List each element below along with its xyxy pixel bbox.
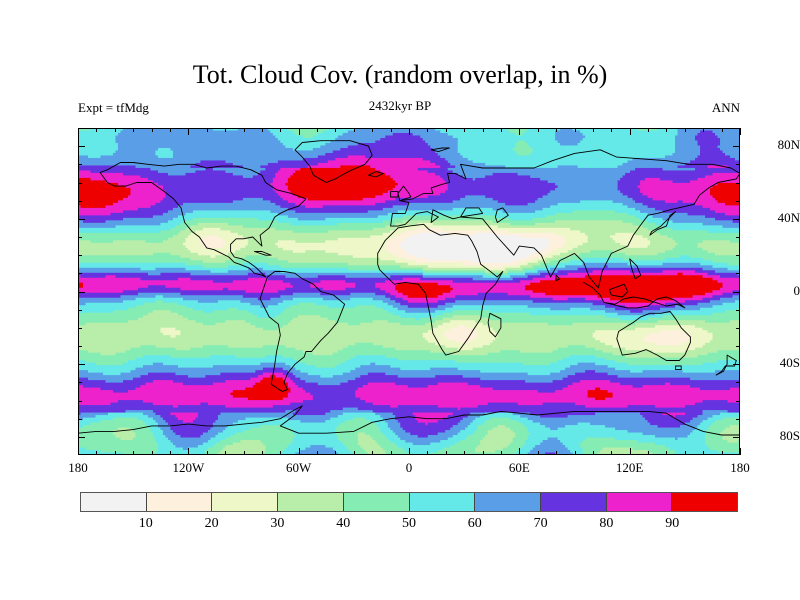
y-tickmark bbox=[78, 292, 85, 293]
x-tickmark bbox=[483, 451, 484, 455]
x-tickmark bbox=[409, 448, 410, 455]
x-tickmark bbox=[78, 448, 79, 455]
x-tickmark bbox=[703, 451, 704, 455]
x-tickmark-top bbox=[78, 128, 79, 135]
colorbar-tick-40: 40 bbox=[323, 516, 363, 532]
x-tickmark bbox=[354, 451, 355, 455]
x-tickmark bbox=[427, 451, 428, 455]
x-tickmark bbox=[188, 448, 189, 455]
x-tickmark-top bbox=[317, 128, 318, 132]
x-tickmark-top bbox=[556, 128, 557, 132]
x-tick-0: 0 bbox=[379, 460, 439, 476]
x-tickmark-top bbox=[630, 128, 631, 135]
x-tickmark bbox=[335, 451, 336, 455]
x-tickmark bbox=[262, 451, 263, 455]
y-tickmark-right bbox=[736, 201, 740, 202]
x-tickmark-top bbox=[427, 128, 428, 132]
colorbar-tick-50: 50 bbox=[389, 516, 429, 532]
x-tickmark-top bbox=[225, 128, 226, 132]
y-tickmark bbox=[78, 328, 82, 329]
x-tickmark bbox=[152, 451, 153, 455]
x-tickmark-top bbox=[372, 128, 373, 132]
x-tickmark-top bbox=[354, 128, 355, 132]
y-tickmark bbox=[78, 346, 82, 347]
cloud-cover-map-figure: Tot. Cloud Cov. (random overlap, in %) E… bbox=[0, 0, 800, 600]
x-tick-60E: 60E bbox=[489, 460, 549, 476]
x-tickmark-top bbox=[483, 128, 484, 132]
x-tickmark-top bbox=[280, 128, 281, 132]
y-tickmark-right bbox=[736, 255, 740, 256]
x-tickmark bbox=[299, 448, 300, 455]
y-tick-0: 0 bbox=[730, 283, 800, 299]
colorbar-band-90-100[interactable] bbox=[672, 493, 737, 511]
y-tickmark-right bbox=[733, 437, 740, 438]
colorbar-band-60-70[interactable] bbox=[475, 493, 541, 511]
x-tickmark bbox=[280, 451, 281, 455]
x-tickmark bbox=[317, 451, 318, 455]
x-tickmark bbox=[575, 451, 576, 455]
x-tickmark bbox=[244, 451, 245, 455]
y-tickmark bbox=[78, 437, 85, 438]
cloud-cover-heatmap bbox=[78, 128, 740, 455]
x-tickmark bbox=[207, 451, 208, 455]
x-tickmark bbox=[722, 451, 723, 455]
x-tickmark-top bbox=[170, 128, 171, 132]
x-tickmark bbox=[538, 451, 539, 455]
colorbar-band-70-80[interactable] bbox=[541, 493, 607, 511]
y-tickmark-right bbox=[733, 364, 740, 365]
y-tickmark bbox=[78, 310, 82, 311]
x-tickmark-top bbox=[666, 128, 667, 132]
colorbar-band-80-90[interactable] bbox=[607, 493, 673, 511]
colorbar-tick-30: 30 bbox=[257, 516, 297, 532]
x-tickmark-top bbox=[611, 128, 612, 132]
y-tickmark-right bbox=[733, 292, 740, 293]
x-tickmark bbox=[740, 448, 741, 455]
y-tickmark bbox=[78, 419, 82, 420]
x-tickmark bbox=[96, 451, 97, 455]
colorbar[interactable] bbox=[80, 492, 738, 512]
y-tick-80N: 80N bbox=[730, 137, 800, 153]
x-tickmark bbox=[372, 451, 373, 455]
y-tickmark-right bbox=[736, 401, 740, 402]
x-tickmark-top bbox=[335, 128, 336, 132]
y-tickmark-right bbox=[736, 273, 740, 274]
x-tickmark bbox=[225, 451, 226, 455]
season-label: ANN bbox=[0, 100, 740, 116]
colorbar-tick-60: 60 bbox=[455, 516, 495, 532]
x-tickmark bbox=[391, 451, 392, 455]
x-tickmark-top bbox=[593, 128, 594, 132]
x-tickmark-top bbox=[152, 128, 153, 132]
x-tick-60W: 60W bbox=[269, 460, 329, 476]
x-tickmark-top bbox=[648, 128, 649, 132]
colorbar-tick-70: 70 bbox=[521, 516, 561, 532]
x-tickmark-top bbox=[685, 128, 686, 132]
y-tickmark-right bbox=[736, 310, 740, 311]
x-tick-120W: 120W bbox=[158, 460, 218, 476]
x-tickmark-top bbox=[262, 128, 263, 132]
y-tickmark-right bbox=[736, 237, 740, 238]
y-tickmark bbox=[78, 273, 82, 274]
x-tickmark-top bbox=[740, 128, 741, 135]
y-tickmark bbox=[78, 201, 82, 202]
x-tickmark-top bbox=[133, 128, 134, 132]
y-tickmark-right bbox=[736, 328, 740, 329]
x-tickmark bbox=[519, 448, 520, 455]
x-tickmark-top bbox=[501, 128, 502, 132]
x-tickmark-top bbox=[519, 128, 520, 135]
y-tickmark-right bbox=[736, 183, 740, 184]
y-tickmark bbox=[78, 401, 82, 402]
y-tickmark bbox=[78, 183, 82, 184]
x-tickmark bbox=[170, 451, 171, 455]
y-tickmark bbox=[78, 219, 85, 220]
y-tick-80S: 80S bbox=[730, 428, 800, 444]
colorbar-band-50-60[interactable] bbox=[410, 493, 476, 511]
x-tickmark bbox=[446, 451, 447, 455]
x-tickmark-top bbox=[409, 128, 410, 135]
x-tickmark bbox=[630, 448, 631, 455]
x-tickmark bbox=[685, 451, 686, 455]
x-tickmark bbox=[593, 451, 594, 455]
y-tick-40S: 40S bbox=[730, 355, 800, 371]
y-tickmark-right bbox=[733, 219, 740, 220]
y-tick-40N: 40N bbox=[730, 210, 800, 226]
x-tickmark-top bbox=[299, 128, 300, 135]
y-tickmark-right bbox=[736, 382, 740, 383]
colorbar-band-30-40[interactable] bbox=[278, 493, 344, 511]
x-tick-180: 180 bbox=[48, 460, 108, 476]
x-tickmark bbox=[133, 451, 134, 455]
colorbar-band-0-10[interactable] bbox=[81, 493, 147, 511]
x-tickmark bbox=[464, 451, 465, 455]
y-tickmark bbox=[78, 237, 82, 238]
x-tickmark-top bbox=[703, 128, 704, 132]
x-tickmark-top bbox=[115, 128, 116, 132]
x-tickmark-top bbox=[96, 128, 97, 132]
colorbar-band-20-30[interactable] bbox=[212, 493, 278, 511]
x-tickmark-top bbox=[464, 128, 465, 132]
page-title: Tot. Cloud Cov. (random overlap, in %) bbox=[0, 60, 800, 90]
x-tickmark-top bbox=[244, 128, 245, 132]
x-tickmark bbox=[556, 451, 557, 455]
x-tickmark-top bbox=[575, 128, 576, 132]
y-tickmark-right bbox=[736, 346, 740, 347]
x-tick-180: 180 bbox=[710, 460, 770, 476]
x-tickmark-top bbox=[722, 128, 723, 132]
y-tickmark bbox=[78, 364, 85, 365]
x-tickmark bbox=[666, 451, 667, 455]
x-tickmark-top bbox=[391, 128, 392, 132]
y-tickmark bbox=[78, 255, 82, 256]
x-tickmark bbox=[648, 451, 649, 455]
colorbar-tick-10: 10 bbox=[126, 516, 166, 532]
y-tickmark bbox=[78, 146, 85, 147]
x-tickmark-top bbox=[446, 128, 447, 132]
y-tickmark bbox=[78, 164, 82, 165]
colorbar-tick-90: 90 bbox=[652, 516, 692, 532]
x-tick-120E: 120E bbox=[600, 460, 660, 476]
map-plot-area bbox=[78, 128, 740, 455]
colorbar-band-10-20[interactable] bbox=[147, 493, 213, 511]
y-tickmark bbox=[78, 382, 82, 383]
x-tickmark bbox=[501, 451, 502, 455]
cloud-field-cells bbox=[78, 128, 740, 455]
x-tickmark bbox=[611, 451, 612, 455]
x-tickmark-top bbox=[538, 128, 539, 132]
y-tickmark-right bbox=[736, 419, 740, 420]
colorbar-tick-20: 20 bbox=[192, 516, 232, 532]
y-tickmark-right bbox=[736, 164, 740, 165]
colorbar-tick-80: 80 bbox=[586, 516, 626, 532]
colorbar-band-40-50[interactable] bbox=[344, 493, 410, 511]
x-tickmark-top bbox=[188, 128, 189, 135]
x-tickmark bbox=[115, 451, 116, 455]
y-tickmark-right bbox=[733, 146, 740, 147]
x-tickmark-top bbox=[207, 128, 208, 132]
